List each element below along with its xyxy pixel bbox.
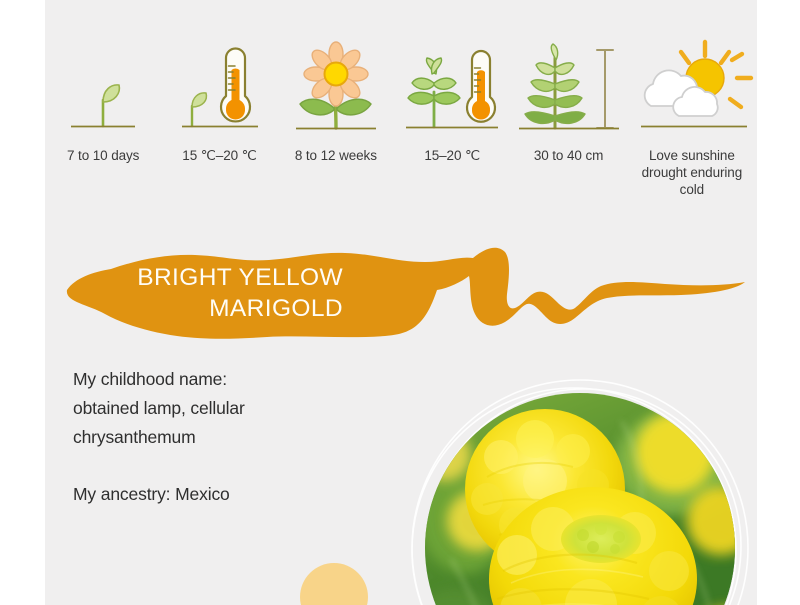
copy-spacer (73, 452, 403, 480)
banner-title: BRIGHT YELLOW MARIGOLD (63, 262, 343, 324)
growth-stage-label: 15–20 ℃ (424, 147, 480, 164)
growth-stage-label: 8 to 12 weeks (295, 147, 377, 164)
growth-stage-item[interactable]: 8 to 12 weeks (278, 40, 394, 164)
growth-stage-label: 15 ℃–20 ℃ (182, 147, 256, 164)
growth-stage-label: 7 to 10 days (67, 147, 139, 164)
growth-stage-item[interactable]: Love sunshine drought enduring cold (627, 40, 757, 198)
ancestry-text: My ancestry: Mexico (73, 480, 403, 509)
growth-stage-item[interactable]: 15–20 ℃ (394, 40, 510, 164)
sprout-thermometer-icon (394, 40, 510, 138)
childhood-name-text: My childhood name: obtained lamp, cellul… (73, 365, 403, 452)
growth-stage-row: 7 to 10 days (45, 40, 757, 210)
marigold-photo (408, 376, 752, 605)
infographic-page: 7 to 10 days (0, 0, 800, 605)
blooming-flower-icon (278, 40, 394, 138)
seedling-thermometer-icon (161, 40, 277, 138)
growth-stage-item[interactable]: 7 to 10 days (45, 40, 161, 164)
growth-stage-label: Love sunshine drought enduring cold (642, 147, 742, 198)
title-banner: BRIGHT YELLOW MARIGOLD (45, 238, 757, 348)
sun-cloud-icon (627, 40, 757, 138)
seedling-icon (45, 40, 161, 138)
growth-stage-label: 30 to 40 cm (534, 147, 603, 164)
growth-stage-item[interactable]: 30 to 40 cm (510, 40, 626, 164)
plant-height-ruler-icon (510, 40, 626, 138)
plant-details: My childhood name: obtained lamp, cellul… (73, 365, 403, 509)
growth-stage-item[interactable]: 15 ℃–20 ℃ (161, 40, 277, 164)
